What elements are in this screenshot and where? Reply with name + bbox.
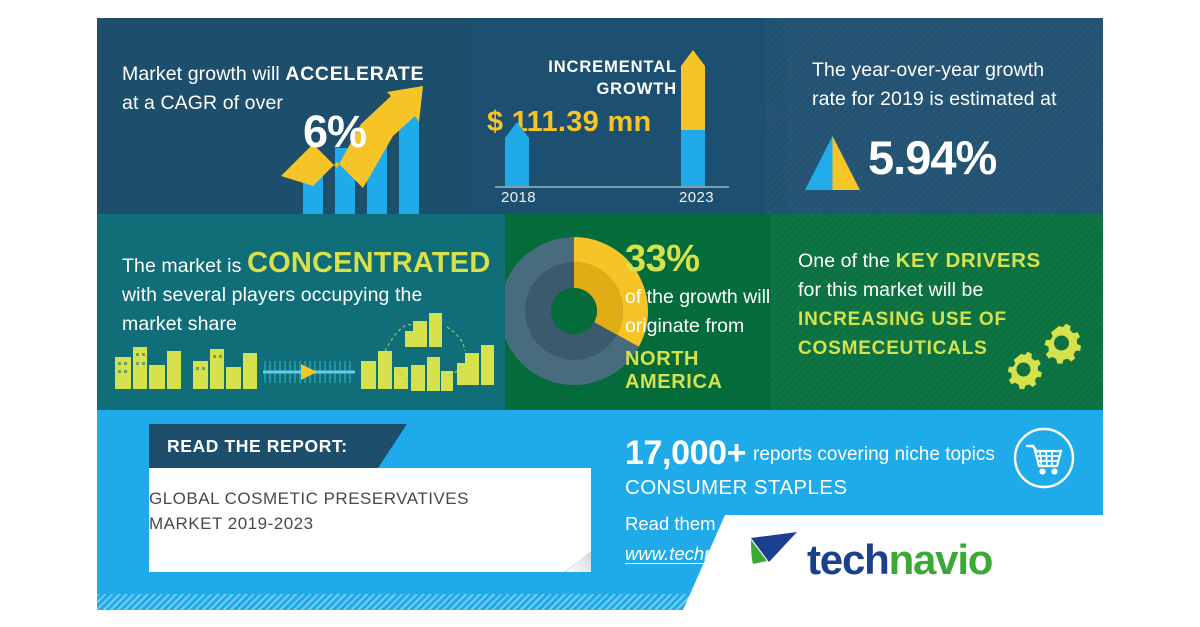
north-america-value: 33%	[625, 238, 700, 281]
report-title-line1: GLOBAL COSMETIC PRESERVATIVES	[149, 489, 469, 508]
north-america-line1: of the growth will	[625, 286, 770, 309]
kd-line1-plain: One of the	[798, 250, 896, 272]
infographic-root: Market growth will ACCELERATE at a CAGR …	[0, 0, 1200, 627]
city-clusters-with-arrow-icon	[105, 309, 505, 404]
conc-line1-plain: The market is	[122, 255, 247, 277]
report-title-line2: MARKET 2019-2023	[149, 514, 314, 533]
yoy-statement: The year-over-year growth rate for 2019 …	[812, 56, 1082, 114]
infographic-board: Market growth will ACCELERATE at a CAGR …	[97, 18, 1103, 610]
kd-line2: for this market will be	[798, 279, 983, 301]
report-count-suffix: reports covering niche topics	[753, 444, 995, 466]
triangle-up-icon	[805, 136, 860, 190]
kd-driver-line2: COSMECEUTICALS	[798, 338, 988, 359]
bar-2023-increment	[681, 50, 705, 130]
read-the-report-label: READ THE REPORT:	[167, 436, 348, 457]
cagr-line1-plain: Market growth will	[122, 63, 285, 85]
panel-divider-notch	[765, 18, 787, 214]
conc-line1-strong: CONCENTRATED	[247, 247, 491, 279]
bar-2023-base	[681, 130, 705, 186]
paper-plane-icon	[747, 528, 801, 578]
yoy-line2: rate for 2019 is estimated at	[812, 88, 1057, 110]
incremental-year-2018: 2018	[501, 189, 536, 206]
conc-line2: with several players occupying the	[122, 284, 422, 306]
footer-banner: READ THE REPORT: GLOBAL COSMETIC PRESERV…	[97, 410, 1103, 610]
yoy-growth-panel: The year-over-year growth rate for 2019 …	[765, 18, 1103, 214]
kd-line1-strong: KEY DRIVERS	[896, 249, 1041, 272]
cagr-line2: at a CAGR of over	[122, 92, 283, 114]
north-america-line2: originate from	[625, 315, 744, 338]
report-title: GLOBAL COSMETIC PRESERVATIVES MARKET 201…	[149, 486, 579, 536]
cagr-value: 6%	[303, 106, 366, 158]
incremental-year-2023: 2023	[679, 189, 714, 206]
kd-driver-line1: INCREASING USE OF	[798, 309, 1007, 330]
report-sector: CONSUMER STAPLES	[625, 476, 847, 500]
north-america-region: NORTH AMERICA	[625, 348, 771, 394]
incremental-growth-panel: INCREMENTAL GROWTH $ 111.39 mn 2018 2023	[469, 18, 765, 214]
yoy-line1: The year-over-year growth	[812, 59, 1044, 81]
technavio-wordmark: technavio	[807, 536, 992, 584]
incremental-growth-bar-chart	[469, 18, 765, 214]
key-drivers-panel: One of the KEY DRIVERS for this market w…	[771, 214, 1103, 410]
yoy-value: 5.94%	[868, 130, 996, 185]
logo-text-tech: tech	[807, 536, 889, 583]
cagr-panel: Market growth will ACCELERATE at a CAGR …	[97, 18, 469, 214]
gears-icon	[997, 320, 1087, 392]
report-count: 17,000+	[625, 434, 746, 473]
shopping-cart-icon[interactable]	[1012, 426, 1076, 490]
technavio-logo[interactable]: technavio	[747, 528, 1007, 590]
bar-2018	[505, 122, 529, 186]
logo-text-navio: navio	[889, 536, 993, 583]
market-concentration-panel: The market is CONCENTRATED with several …	[97, 214, 505, 410]
north-america-share-panel: 33% of the growth will originate from NO…	[505, 214, 771, 410]
